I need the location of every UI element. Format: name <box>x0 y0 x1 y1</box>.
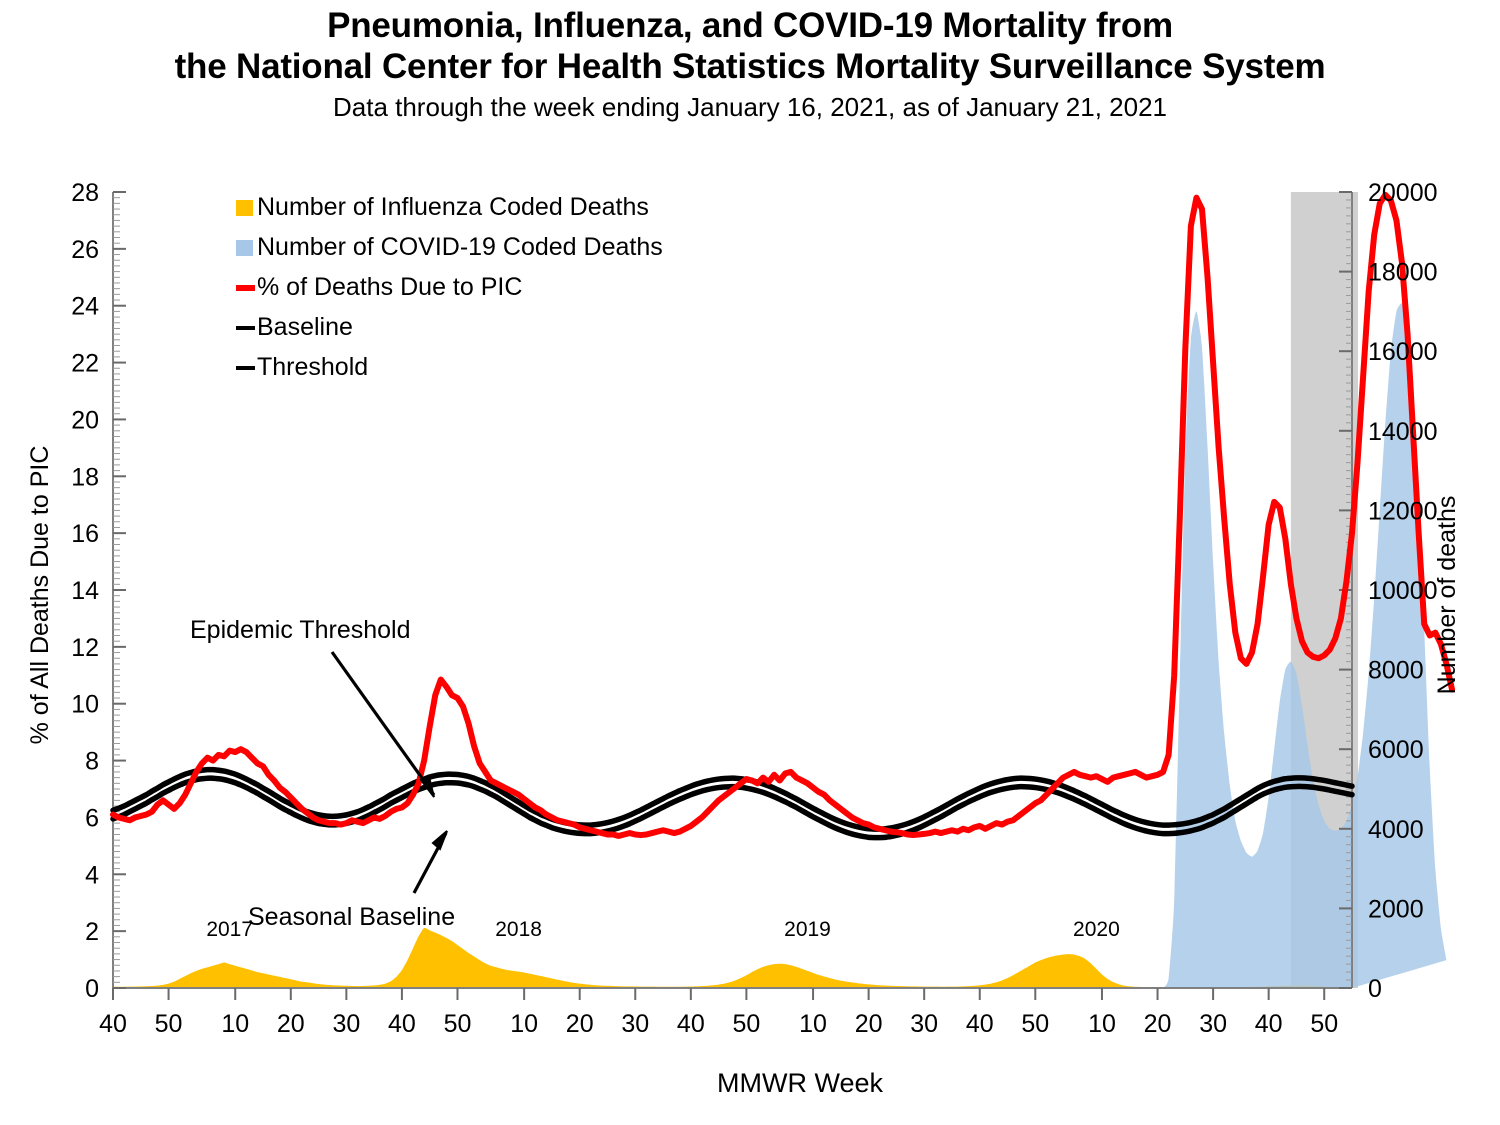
y-tick-label-left: 24 <box>71 293 99 321</box>
y-tick-label-left: 2 <box>85 918 99 946</box>
x-tick-label: 30 <box>621 1010 649 1038</box>
legend-label: % of Deaths Due to PIC <box>257 273 522 301</box>
x-tick-label: 40 <box>1255 1010 1283 1038</box>
x-tick-label: 30 <box>332 1010 360 1038</box>
y-tick-label-right: 16000 <box>1368 338 1438 366</box>
x-tick-label: 20 <box>566 1010 594 1038</box>
y-tick-label-right: 2000 <box>1368 895 1424 923</box>
legend-label: Threshold <box>257 353 368 381</box>
legend-item[interactable]: Number of COVID-19 Coded Deaths <box>236 233 663 261</box>
x-tick-label: 40 <box>388 1010 416 1038</box>
y-tick-label-left: 8 <box>85 748 99 776</box>
x-tick-label: 50 <box>732 1010 760 1038</box>
annotation-seasonal-baseline: Seasonal Baseline <box>248 903 455 931</box>
y-tick-label-left: 18 <box>71 463 99 491</box>
y-tick-label-left: 28 <box>71 179 99 207</box>
mortality-surveillance-chart: 2017201820192020 02468101214161820222426… <box>0 0 1500 1125</box>
x-tick-label: 50 <box>155 1010 183 1038</box>
x-tick-label: 50 <box>1021 1010 1049 1038</box>
x-tick-label: 20 <box>855 1010 883 1038</box>
x-tick-label: 30 <box>1199 1010 1227 1038</box>
y-tick-label-right: 20000 <box>1368 179 1438 207</box>
x-tick-label: 40 <box>99 1010 127 1038</box>
y-tick-label-left: 20 <box>71 406 99 434</box>
annotation-arrow-threshold <box>332 652 434 795</box>
y-tick-label-right: 4000 <box>1368 816 1424 844</box>
x-tick-label: 50 <box>444 1010 472 1038</box>
area-series-layer <box>113 303 1446 988</box>
legend-item[interactable]: Threshold <box>236 353 368 381</box>
x-tick-label: 10 <box>221 1010 249 1038</box>
year-label: 2019 <box>784 918 831 941</box>
y-axis-left-title: % of All Deaths Due to PIC <box>26 446 54 745</box>
y-tick-label-left: 22 <box>71 350 99 378</box>
legend-label: Number of Influenza Coded Deaths <box>257 193 649 221</box>
legend-label: Number of COVID-19 Coded Deaths <box>257 233 663 261</box>
y-tick-label-right: 12000 <box>1368 497 1438 525</box>
area-covid-deaths <box>113 303 1446 988</box>
chart-canvas: 2017201820192020 02468101214161820222426… <box>0 0 1500 1125</box>
year-label: 2018 <box>495 918 542 941</box>
area-influenza-deaths <box>113 928 1352 988</box>
y-tick-label-right: 10000 <box>1368 577 1438 605</box>
y-tick-label-left: 0 <box>85 975 99 1003</box>
x-tick-label: 40 <box>966 1010 994 1038</box>
x-tick-label: 20 <box>277 1010 305 1038</box>
y-tick-label-left: 6 <box>85 804 99 832</box>
y-tick-label-right: 18000 <box>1368 259 1438 287</box>
legend-item[interactable]: Number of Influenza Coded Deaths <box>236 193 649 221</box>
x-axis-title: MMWR Week <box>717 1068 883 1098</box>
y-tick-label-right: 6000 <box>1368 736 1424 764</box>
legend-swatch-icon <box>236 200 253 216</box>
y-tick-label-left: 10 <box>71 691 99 719</box>
legend-label: Baseline <box>257 313 353 341</box>
year-label: 2020 <box>1073 918 1120 941</box>
x-tick-label: 30 <box>910 1010 938 1038</box>
legend-item[interactable]: % of Deaths Due to PIC <box>236 273 522 301</box>
annotation-epidemic-threshold: Epidemic Threshold <box>190 616 410 644</box>
line-threshold <box>113 770 1352 829</box>
legend-item[interactable]: Baseline <box>236 313 353 341</box>
x-tick-label: 10 <box>510 1010 538 1038</box>
annotation-arrowhead-baseline <box>433 831 447 849</box>
y-tick-label-left: 4 <box>85 861 99 889</box>
y-tick-label-left: 26 <box>71 236 99 264</box>
y-axis-right-title: Number of deaths <box>1433 496 1461 695</box>
x-tick-label: 20 <box>1144 1010 1172 1038</box>
chart-legend: Number of Influenza Coded DeathsNumber o… <box>236 193 663 381</box>
year-label: 2017 <box>206 918 253 941</box>
y-tick-label-left: 16 <box>71 520 99 548</box>
y-tick-label-right: 0 <box>1368 975 1382 1003</box>
x-tick-label: 10 <box>1088 1010 1116 1038</box>
y-tick-label-left: 14 <box>71 577 99 605</box>
x-tick-label: 40 <box>677 1010 705 1038</box>
y-tick-label-right: 14000 <box>1368 418 1438 446</box>
legend-swatch-icon <box>236 240 253 256</box>
x-tick-label: 10 <box>799 1010 827 1038</box>
y-tick-label-left: 12 <box>71 634 99 662</box>
y-tick-label-right: 8000 <box>1368 657 1424 685</box>
x-tick-label: 50 <box>1310 1010 1338 1038</box>
